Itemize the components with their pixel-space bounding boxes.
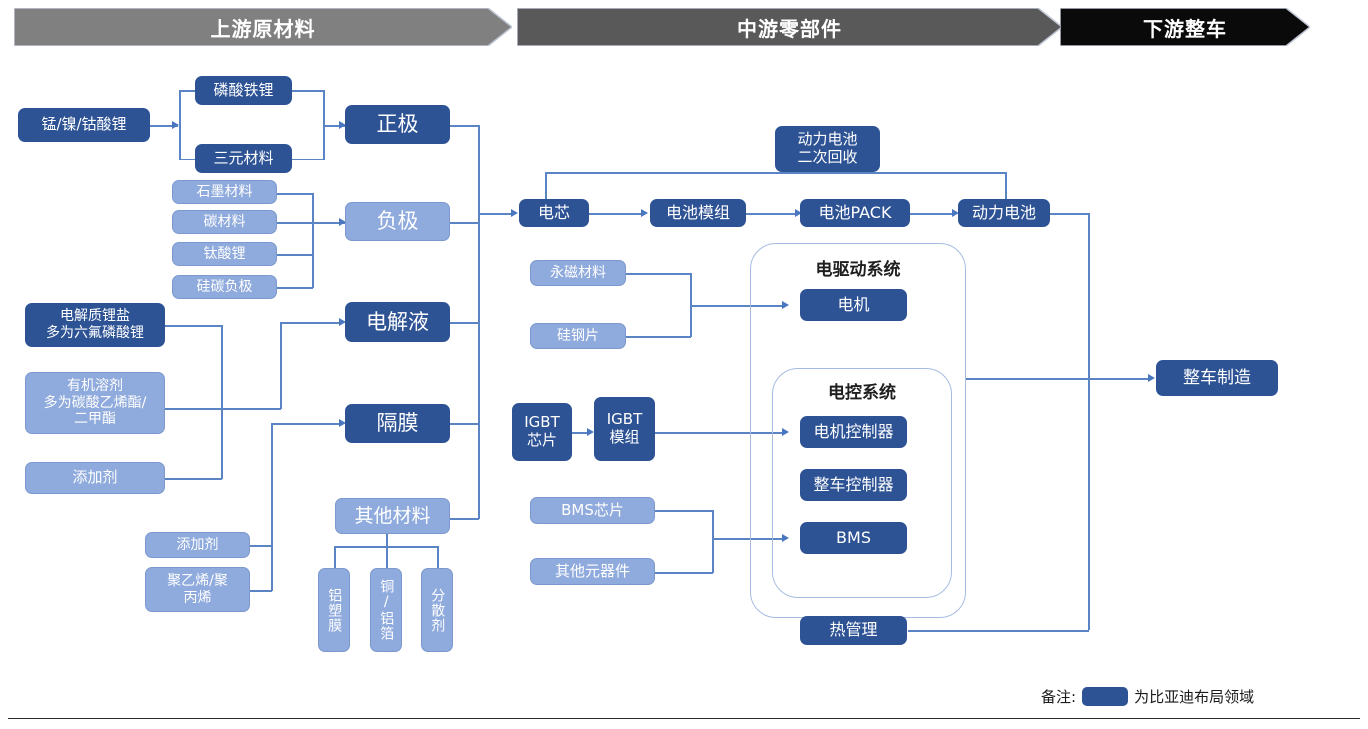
- connector-lfp-to-merge: [292, 90, 324, 92]
- connector-bus-to-ncm: [179, 159, 195, 161]
- connector-cathode-split-bus: [179, 90, 181, 160]
- arrowhead-to-module: [641, 209, 648, 217]
- box-igbt-chip[interactable]: IGBT 芯片: [512, 403, 572, 461]
- connector-additive-to-bus: [165, 478, 222, 480]
- box-electrolyte-additive[interactable]: 添加剂: [25, 462, 165, 494]
- pe-pp-line1: 聚乙烯/聚: [167, 573, 228, 590]
- organic-solvent-line3: 二甲酯: [74, 411, 116, 428]
- header-label-upstream: 上游原材料: [211, 13, 316, 42]
- connector-thermal-right: [908, 630, 1089, 632]
- connector-electrolyte-merge-bus: [221, 325, 223, 479]
- electrolyte-salt-line1: 电解质锂盐: [60, 308, 130, 325]
- connector-salt-to-bus: [165, 325, 222, 327]
- box-bms[interactable]: BMS: [800, 522, 907, 554]
- box-anode-material-graphite[interactable]: 石墨材料: [172, 180, 277, 204]
- connector-silicon-steel-to-bus: [626, 336, 691, 338]
- connector-graphite-to-bus: [277, 193, 313, 195]
- footer-rule: [8, 718, 1360, 719]
- header-band-downstream: 下游整车: [1060, 8, 1310, 46]
- box-electrolyte-salt[interactable]: 电解质锂盐 多为六氟磷酸锂: [25, 303, 165, 347]
- legend: 备注: 为比亚迪布局领域: [1041, 686, 1254, 707]
- box-cathode[interactable]: 正极: [345, 105, 450, 144]
- connector-solvent-to-bus: [165, 408, 222, 410]
- box-silicon-steel-sheet[interactable]: 硅钢片: [530, 323, 626, 349]
- connector-to-vehicle-manufacturing: [1088, 378, 1151, 380]
- arrowhead-to-cell: [511, 209, 518, 217]
- organic-solvent-line2: 多为碳酸乙烯酯/: [44, 395, 147, 412]
- connector-pe-pp-to-bus: [250, 590, 272, 592]
- arrowhead-to-vehicle-manufacturing: [1148, 374, 1155, 382]
- box-vehicle-controller[interactable]: 整车控制器: [800, 469, 907, 501]
- connector-cell-input-bus: [478, 125, 480, 519]
- box-cell[interactable]: 电芯: [519, 199, 589, 227]
- connector-bms-input-bus: [712, 510, 714, 573]
- connector-thermal-up: [1088, 378, 1090, 630]
- igbt-chip-line2: 芯片: [527, 432, 557, 450]
- legend-prefix: 备注:: [1041, 686, 1076, 707]
- recycling-line1: 动力电池: [797, 131, 857, 149]
- box-lithium-source[interactable]: 锰/镍/钴酸锂: [18, 108, 150, 142]
- connector-electrolyte-bus-out: [221, 408, 281, 410]
- connector-electrolyte-out: [450, 322, 479, 324]
- legend-suffix: 为比亚迪布局领域: [1134, 686, 1254, 707]
- connector-pack-to-battery: [910, 213, 955, 215]
- box-copper-aluminium-foil[interactable]: 铜/铝箔: [370, 568, 402, 652]
- connector-sic-to-bus: [277, 287, 313, 289]
- box-bms-chip[interactable]: BMS芯片: [530, 497, 655, 524]
- connector-separator-out: [450, 423, 479, 425]
- box-cathode-material-ncm[interactable]: 三元材料: [195, 144, 292, 173]
- connector-dispersant-riser: [437, 546, 439, 568]
- control-system-title: 电控系统: [772, 378, 952, 403]
- electrolyte-salt-line2: 多为六氟磷酸锂: [46, 325, 144, 342]
- connector-recycle-top: [545, 172, 1006, 174]
- box-vehicle-manufacturing[interactable]: 整车制造: [1156, 360, 1278, 396]
- legend-color-swatch: [1082, 687, 1128, 706]
- connector-magnet-to-bus: [626, 273, 691, 275]
- connector-anode-merge-bus: [312, 193, 314, 288]
- connector-to-separator: [271, 423, 342, 425]
- connector-ncm-to-merge: [292, 159, 324, 161]
- box-power-battery[interactable]: 动力电池: [958, 199, 1050, 227]
- connector-anode-out: [450, 222, 479, 224]
- connector-module-to-pack: [746, 213, 798, 215]
- header-label-downstream: 下游整车: [1143, 13, 1227, 42]
- igbt-chip-line1: IGBT: [524, 414, 560, 432]
- box-electrolyte[interactable]: 电解液: [345, 302, 450, 342]
- box-other-components[interactable]: 其他元器件: [530, 558, 655, 585]
- connector-separator-merge-bus: [271, 423, 273, 591]
- connector-recycle-drop: [545, 172, 547, 200]
- box-thermal-management[interactable]: 热管理: [800, 616, 907, 645]
- connector-other-materials-up: [386, 533, 388, 547]
- box-al-plastic-film[interactable]: 铝塑膜: [318, 568, 350, 652]
- connector-sep-additive-to-bus: [250, 545, 272, 547]
- connector-bus-to-cell: [478, 213, 514, 215]
- box-cathode-material-lfp[interactable]: 磷酸铁锂: [195, 76, 292, 105]
- connector-to-electrolyte: [280, 322, 342, 324]
- connector-bms-chip-to-bus: [655, 510, 713, 512]
- connector-drive-system-out: [966, 378, 1090, 380]
- pe-pp-line2: 丙烯: [184, 590, 212, 607]
- box-other-materials[interactable]: 其他材料: [335, 498, 450, 534]
- connector-electrolyte-riser: [280, 322, 282, 409]
- box-pe-pp[interactable]: 聚乙烯/聚 丙烯: [145, 567, 250, 612]
- header-band-midstream: 中游零部件: [517, 8, 1062, 46]
- connector-carbon-to-bus: [277, 222, 345, 224]
- box-separator[interactable]: 隔膜: [345, 404, 450, 443]
- connector-other-materials-out: [450, 518, 479, 520]
- box-battery-module[interactable]: 电池模组: [650, 199, 746, 227]
- drive-system-title: 电驱动系统: [750, 255, 966, 280]
- box-dispersant[interactable]: 分散剂: [421, 568, 453, 652]
- arrowhead-to-igbt-module: [587, 428, 594, 436]
- box-anode-material-lto[interactable]: 钛酸锂: [172, 242, 277, 266]
- igbt-module-line2: 模组: [609, 429, 639, 447]
- box-anode-material-carbon[interactable]: 碳材料: [172, 210, 277, 234]
- connector-foil-riser: [386, 546, 388, 568]
- arrowhead-lithium-to-bus: [172, 121, 179, 129]
- connector-cathode-out: [450, 125, 479, 127]
- connector-alplastic-riser: [334, 546, 336, 568]
- box-permanent-magnet-material[interactable]: 永磁材料: [530, 260, 626, 286]
- organic-solvent-line1: 有机溶剂: [67, 378, 123, 395]
- igbt-module-line1: IGBT: [607, 411, 643, 429]
- recycling-line2: 二次回收: [797, 149, 857, 167]
- connector-other-parts-to-bus: [655, 572, 713, 574]
- connector-bus-to-lfp: [179, 90, 195, 92]
- box-motor[interactable]: 电机: [800, 289, 907, 321]
- connector-recycle-riser: [1005, 172, 1007, 199]
- connector-battery-right: [1050, 213, 1090, 215]
- box-recycling[interactable]: 动力电池 二次回收: [775, 126, 880, 172]
- header-label-midstream: 中游零部件: [737, 13, 842, 42]
- box-separator-additive[interactable]: 添加剂: [145, 532, 250, 558]
- connector-lto-to-bus: [277, 254, 313, 256]
- connector-battery-down: [1088, 213, 1090, 379]
- connector-cell-to-module: [589, 213, 644, 215]
- box-igbt-module[interactable]: IGBT 模组: [594, 397, 655, 461]
- header-band-upstream: 上游原材料: [14, 8, 512, 46]
- box-anode-material-silicon-carbon[interactable]: 硅碳负极: [172, 275, 277, 299]
- box-organic-solvent[interactable]: 有机溶剂 多为碳酸乙烯酯/ 二甲酯: [25, 372, 165, 434]
- box-battery-pack[interactable]: 电池PACK: [800, 199, 910, 227]
- box-anode[interactable]: 负极: [345, 202, 450, 241]
- diagram-canvas: 上游原材料 中游零部件 下游整车: [0, 0, 1368, 729]
- box-motor-controller[interactable]: 电机控制器: [800, 416, 907, 448]
